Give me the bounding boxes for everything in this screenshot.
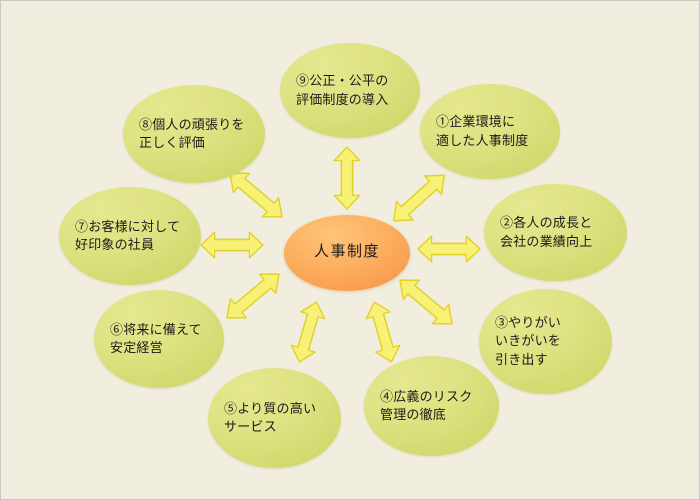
node-4-line-1: ④広義のリスク [364, 388, 472, 406]
center-node[interactable]: 人事制度 [284, 215, 410, 291]
node-9-line-1: ⑨公正・公平の [280, 72, 388, 90]
node-1[interactable]: ①企業環境に 適した人事制度 [420, 84, 560, 179]
node-1-line-1: ①企業環境に [420, 113, 515, 131]
node-8-line-1: ⑧個人の頑張りを [123, 116, 245, 134]
node-3-line-2: いきがいを [479, 332, 561, 350]
arrow-center-to-node-2 [418, 236, 480, 262]
arrow-center-to-node-3 [392, 271, 460, 334]
arrow-center-to-node-1 [385, 166, 452, 230]
node-5-line-1: ⑤より質の高い [208, 400, 316, 418]
node-6-line-2: 安定経営 [94, 339, 163, 357]
node-2[interactable]: ②各人の成長と 会社の業績向上 [484, 184, 627, 281]
node-4-line-2: 管理の徹底 [364, 406, 446, 424]
node-1-line-2: 適した人事制度 [420, 132, 528, 150]
arrow-center-to-node-9 [334, 147, 360, 209]
node-9-line-2: 評価制度の導入 [280, 91, 388, 109]
node-8-line-2: 正しく評価 [123, 134, 205, 152]
node-5-line-2: サービス [208, 418, 277, 436]
node-7-line-1: ⑦お客様に対して [59, 218, 180, 236]
arrow-center-to-node-4 [362, 299, 403, 365]
node-2-line-1: ②各人の成長と [484, 214, 592, 232]
node-6-line-1: ⑥将来に備えて [94, 321, 202, 339]
node-7[interactable]: ⑦お客様に対して 好印象の社員 [59, 187, 201, 285]
arrow-center-to-node-6 [219, 265, 287, 328]
node-5[interactable]: ⑤より質の高い サービス [208, 368, 341, 468]
node-9[interactable]: ⑨公正・公平の 評価制度の導入 [280, 43, 420, 138]
node-3[interactable]: ③やりがい いきがいを 引き出す [479, 289, 612, 394]
node-6[interactable]: ⑥将来に備えて 安定経営 [94, 290, 224, 388]
arrow-center-to-node-7 [201, 232, 263, 258]
node-3-line-3: 引き出す [479, 351, 548, 369]
node-7-line-2: 好印象の社員 [59, 236, 154, 254]
diagram-canvas: 人事制度 ⑨公正・公平の 評価制度の導入 ①企業環境に 適した人事制度 ②各人の… [0, 0, 700, 500]
node-2-line-2: 会社の業績向上 [484, 233, 592, 251]
arrow-center-to-node-5 [287, 299, 328, 365]
center-node-line-1: 人事制度 [314, 242, 380, 263]
node-3-line-1: ③やりがい [479, 314, 561, 332]
node-8[interactable]: ⑧個人の頑張りを 正しく評価 [123, 85, 265, 183]
node-4[interactable]: ④広義のリスク 管理の徹底 [364, 356, 499, 456]
